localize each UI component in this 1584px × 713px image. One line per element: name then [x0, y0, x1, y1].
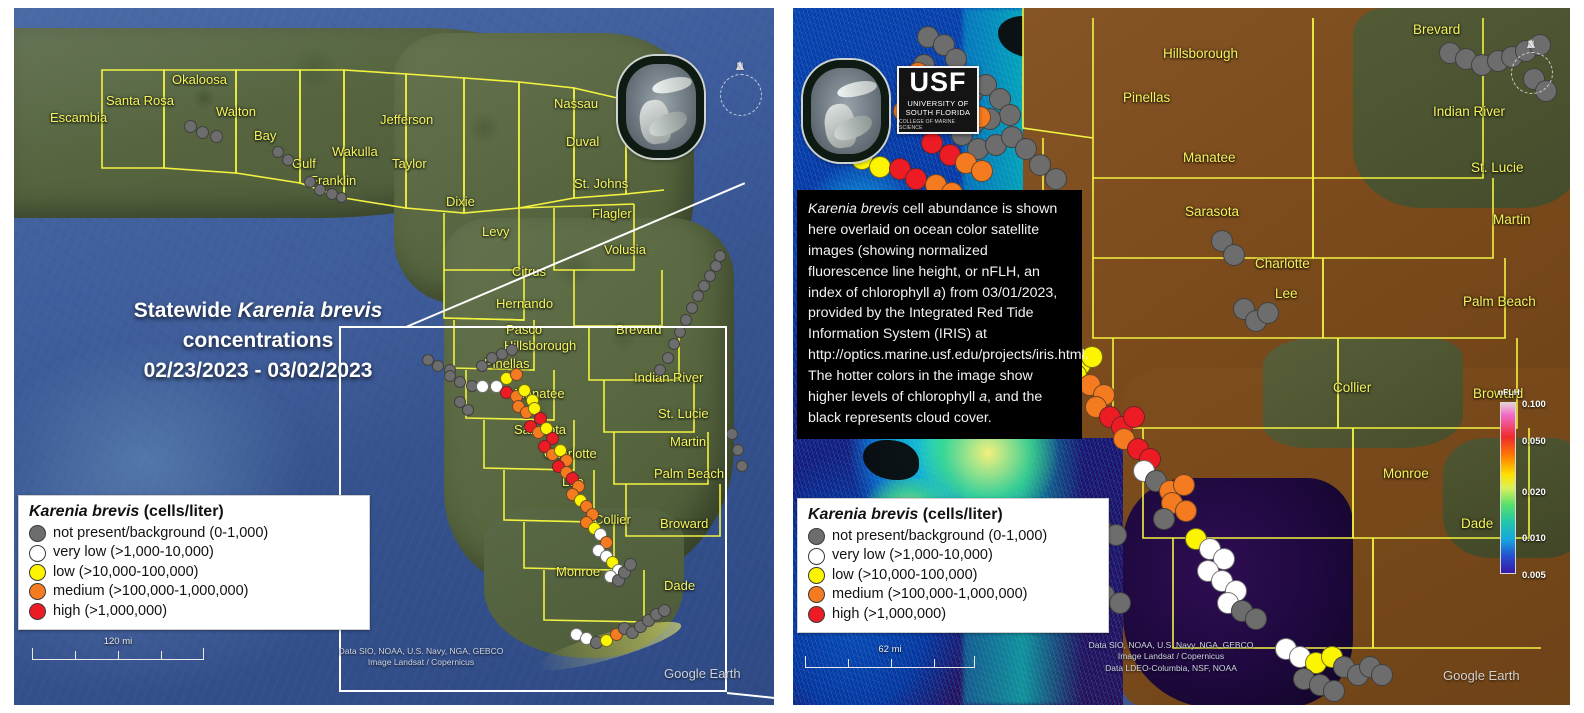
sample-dot-left [714, 250, 726, 262]
legend-item-3: medium (>100,000-1,000,000) [29, 582, 359, 601]
county-label-duval: Duval [566, 134, 599, 149]
sample-dot-left [726, 428, 738, 440]
compass-rose: N [714, 60, 766, 122]
r-county-label-sarasota: Sarasota [1185, 204, 1239, 219]
legend-label-0: not present/background (0-1,000) [53, 524, 268, 543]
legend-label-2-right: low (>10,000-100,000) [832, 566, 978, 585]
r-county-label-monroe: Monroe [1383, 466, 1429, 481]
county-label-volusia: Volusia [604, 242, 646, 257]
legend-item-2-right: low (>10,000-100,000) [808, 566, 1098, 585]
r-county-label-pinellas: Pinellas [1123, 90, 1170, 105]
attribution-line-2: Image Landsat / Copernicus [296, 657, 546, 668]
legend-swatch-icon-4 [29, 603, 46, 620]
r-county-label-indian-river: Indian River [1433, 104, 1505, 119]
county-label-escambia: Escambia [50, 110, 107, 125]
inset-selection-box [339, 326, 727, 692]
legend-swatch-icon-2-right [808, 567, 825, 584]
usf-logo-main: USF [910, 69, 967, 96]
attribution-right: Data SIO, NOAA, U.S. Navy, NGA, GEBCO Im… [1041, 640, 1301, 674]
sample-dot-right [1245, 608, 1267, 630]
sample-dot-right [1371, 664, 1393, 686]
sample-dot-right [1045, 168, 1067, 190]
legend-label-0-right: not present/background (0-1,000) [832, 527, 1047, 546]
sample-dot-left [732, 444, 744, 456]
usf-logo-sub: UNIVERSITY OF SOUTH FLORIDA [899, 99, 977, 118]
info-text-2: ) from 03/01/2023, provided by the Integ… [808, 285, 1089, 405]
legend-swatch-icon-2 [29, 564, 46, 581]
county-label-flagler: Flagler [592, 206, 632, 221]
county-label-st-johns: St. Johns [574, 176, 628, 191]
county-label-santa-rosa: Santa Rosa [106, 93, 174, 108]
legend-item-4: high (>1,000,000) [29, 602, 359, 621]
r-county-label-dade: Dade [1461, 516, 1493, 531]
legend-label-1: very low (>1,000-10,000) [53, 543, 214, 562]
colorbar-tick-3: 0.010 [1522, 533, 1546, 544]
r-county-label-lee: Lee [1275, 286, 1298, 301]
county-label-wakulla: Wakulla [332, 144, 378, 159]
right-map-panel: Hillsborough Pinellas Manatee Sarasota C… [793, 8, 1570, 705]
legend-swatch-icon-1 [29, 545, 46, 562]
fwc-bird-icon [651, 74, 693, 96]
info-text-box: Karenia brevis cell abundance is shown h… [797, 190, 1082, 439]
info-em-3: a [979, 389, 987, 405]
r-county-label-manatee: Manatee [1183, 150, 1236, 165]
compass-north-label-right: N [1528, 40, 1535, 49]
attribution-left: Data SIO, NOAA, U.S. Navy, NGA, GEBCO Im… [296, 646, 546, 669]
map-title-line1: Statewide Karenia brevis [98, 296, 418, 326]
r-county-label-hillsborough: Hillsborough [1163, 46, 1238, 61]
r-county-label-st-lucie: St. Lucie [1471, 160, 1524, 175]
attribution-right-line-1: Data SIO, NOAA, U.S. Navy, NGA, GEBCO [1041, 640, 1301, 651]
sample-dot-right [1257, 302, 1279, 324]
sample-dot-right [999, 104, 1021, 126]
info-em-1: Karenia brevis [808, 201, 899, 217]
county-label-walton: Walton [216, 104, 256, 119]
attribution-line-1: Data SIO, NOAA, U.S. Navy, NGA, GEBCO [296, 646, 546, 657]
county-label-dixie: Dixie [446, 194, 475, 209]
sample-dot-left [314, 184, 326, 196]
sample-dot-right [869, 156, 891, 178]
scalebar-line-right [805, 656, 975, 668]
legend-label-3: medium (>100,000-1,000,000) [53, 582, 248, 601]
legend-swatch-icon-0-right [808, 528, 825, 545]
sample-dot-left [680, 314, 692, 326]
colorbar-tick-2: 0.020 [1522, 487, 1546, 498]
sample-dot-left [282, 154, 294, 166]
legend-item-0-right: not present/background (0-1,000) [808, 527, 1098, 546]
legend-item-2: low (>10,000-100,000) [29, 563, 359, 582]
scalebar-left: 120 mi [32, 648, 204, 660]
attribution-right-line-2: Image Landsat / Copernicus [1041, 651, 1301, 662]
scalebar-label-right: 62 mi [878, 644, 901, 655]
usf-logo: USF UNIVERSITY OF SOUTH FLORIDA COLLEGE … [897, 66, 979, 134]
legend-right: Karenia brevis (cells/liter) not present… [797, 498, 1109, 633]
compass-circle-icon-right [1511, 52, 1553, 94]
sample-dot-right [905, 168, 927, 190]
r-county-label-collier: Collier [1333, 380, 1371, 395]
colorbar-tick-4: 0.005 [1522, 570, 1546, 581]
county-label-hernando: Hernando [496, 296, 553, 311]
legend-rows: not present/background (0-1,000)very low… [29, 524, 359, 621]
attribution-right-line-3: Data LDEO-Columbia, NSF, NOAA [1041, 663, 1301, 674]
sample-dot-left [336, 192, 347, 203]
r-county-label-brevard: Brevard [1413, 22, 1460, 37]
sample-dot-right [1153, 508, 1175, 530]
scalebar-label: 120 mi [104, 636, 133, 647]
fwc-bird-icon-right [836, 78, 878, 100]
compass-rose-right: N [1505, 38, 1557, 100]
sample-dot-right [1109, 592, 1131, 614]
sample-dot-left [686, 302, 698, 314]
compass-circle-icon [720, 74, 762, 116]
sample-dot-right [1175, 500, 1197, 522]
r-county-label-charlotte: Charlotte [1255, 256, 1310, 271]
legend-swatch-icon-3 [29, 583, 46, 600]
compass-north-label: N [737, 62, 744, 71]
county-label-levy: Levy [482, 224, 509, 239]
legend-label-4: high (>1,000,000) [53, 602, 167, 621]
county-label-citrus: Citrus [512, 264, 546, 279]
left-map-panel: Escambia Santa Rosa Okaloosa Walton Bay … [14, 8, 774, 705]
colorbar-tick-0: 0.100 [1522, 399, 1546, 410]
county-label-bay: Bay [254, 128, 276, 143]
county-label-taylor: Taylor [392, 156, 427, 171]
r-county-label-palm-beach: Palm Beach [1463, 294, 1536, 309]
legend-label-3-right: medium (>100,000-1,000,000) [832, 585, 1027, 604]
legend-label-2: low (>10,000-100,000) [53, 563, 199, 582]
legend-title-right: Karenia brevis (cells/liter) [808, 506, 1098, 524]
legend-swatch-icon-3-right [808, 586, 825, 603]
sample-dot-right [971, 160, 993, 182]
county-label-okaloosa: Okaloosa [172, 72, 227, 87]
legend-swatch-icon-4-right [808, 606, 825, 623]
legend-label-4-right: high (>1,000,000) [832, 605, 946, 624]
sample-dot-left [196, 126, 209, 139]
sample-dot-right [1323, 680, 1345, 702]
legend-rows-right: not present/background (0-1,000)very low… [808, 527, 1098, 624]
legend-left: Karenia brevis (cells/liter) not present… [18, 495, 370, 630]
google-earth-watermark-left: Google Earth [664, 666, 741, 681]
scalebar-right: 62 mi [805, 656, 975, 668]
colorbar-tick-1: 0.050 [1522, 436, 1546, 447]
county-label-gulf: Gulf [292, 156, 316, 171]
county-label-jefferson: Jefferson [380, 112, 433, 127]
r-county-label-martin: Martin [1493, 212, 1531, 227]
sample-dot-right [1123, 406, 1145, 428]
legend-item-4-right: high (>1,000,000) [808, 605, 1098, 624]
legend-item-3-right: medium (>100,000-1,000,000) [808, 585, 1098, 604]
scalebar-line [32, 648, 204, 660]
sample-dot-left [210, 130, 223, 143]
usf-logo-sub2: COLLEGE OF MARINE SCIENCE [899, 119, 977, 131]
legend-title: Karenia brevis (cells/liter) [29, 503, 359, 521]
legend-item-1: very low (>1,000-10,000) [29, 543, 359, 562]
colorbar-title: nFLH [1498, 388, 1520, 397]
county-label-nassau: Nassau [554, 96, 598, 111]
legend-swatch-icon-0 [29, 525, 46, 542]
sample-dot-left [736, 460, 748, 472]
legend-swatch-icon-1-right [808, 548, 825, 565]
legend-label-1-right: very low (>1,000-10,000) [832, 546, 993, 565]
google-earth-watermark-right: Google Earth [1443, 668, 1520, 683]
nflh-colorbar [1500, 402, 1516, 574]
legend-item-0: not present/background (0-1,000) [29, 524, 359, 543]
legend-item-1-right: very low (>1,000-10,000) [808, 546, 1098, 565]
fwc-logo [618, 56, 704, 158]
sample-dot-right [1223, 244, 1245, 266]
fwc-logo-right [803, 60, 889, 162]
figure-root: Escambia Santa Rosa Okaloosa Walton Bay … [0, 0, 1584, 713]
